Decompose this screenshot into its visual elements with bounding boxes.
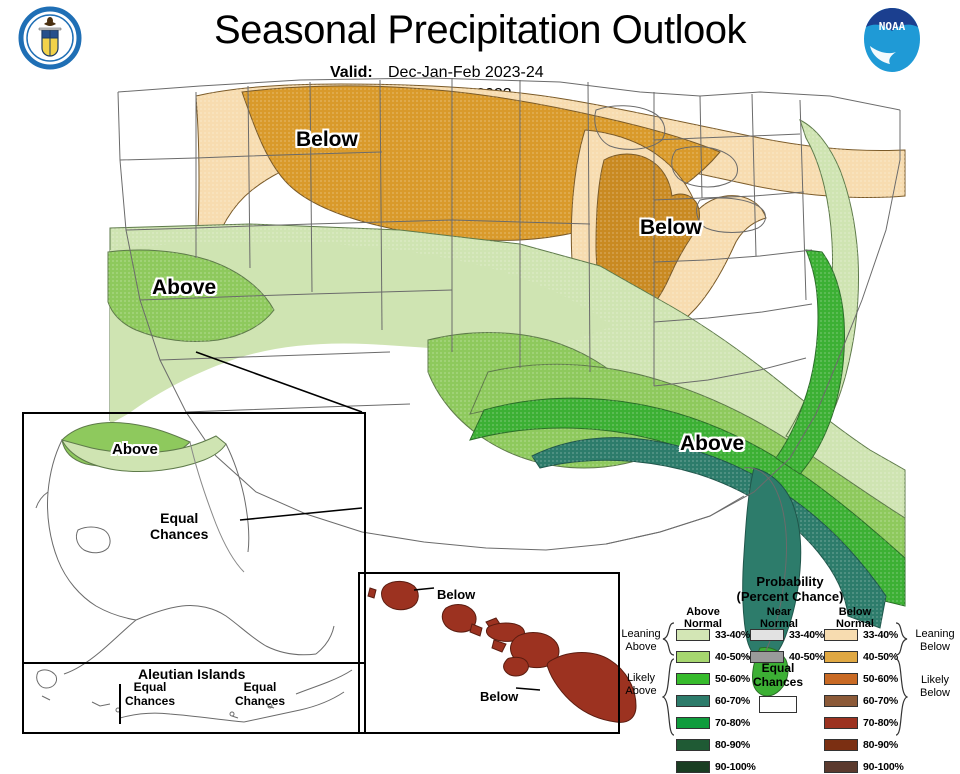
- map-label-above: Above: [680, 432, 744, 456]
- legend-column-header-near-normal: Near Normal: [746, 606, 812, 631]
- legend-head-above-1: Above: [670, 606, 736, 618]
- brace-label-leaning-below: LeaningBelow: [908, 628, 960, 653]
- brace-likely-above-icon: [662, 658, 676, 736]
- legend-below-normal-row: 90-100%: [824, 760, 904, 774]
- legend-below-normal-swatch: [824, 673, 858, 685]
- legend-above-normal-swatch: [676, 761, 710, 773]
- legend-above-normal-row: 60-70%: [676, 694, 750, 708]
- legend-below-normal-label: 50-60%: [863, 673, 898, 685]
- legend-title-line1: Probability: [680, 575, 900, 590]
- brace-leaning-below-icon: [894, 622, 908, 656]
- legend-below-normal-swatch: [824, 651, 858, 663]
- legend-below-normal-swatch: [824, 717, 858, 729]
- brace-likely-below-icon: [894, 658, 908, 736]
- brace-label-likely-above: LikelyAbove: [614, 672, 668, 697]
- legend-column-header-above-normal: Above Normal: [670, 606, 736, 631]
- legend-above-normal-row: 33-40%: [676, 628, 750, 642]
- legend-above-normal-label: 90-100%: [715, 761, 756, 773]
- brace-leaning-above-icon: [662, 622, 676, 656]
- legend-below-normal-row: 50-60%: [824, 672, 898, 686]
- legend-below-normal-swatch: [824, 629, 858, 641]
- legend-below-normal-row: 70-80%: [824, 716, 898, 730]
- brace-label-leaning-above: LeaningAbove: [614, 628, 668, 653]
- hawaii-label-below: Below: [480, 690, 518, 705]
- aleutian-label-left: EqualChances: [125, 681, 175, 709]
- legend-above-normal-swatch: [676, 717, 710, 729]
- legend-above-normal-label: 33-40%: [715, 629, 750, 641]
- legend-near-normal-label: 33-40%: [789, 629, 824, 641]
- legend-above-normal-label: 80-90%: [715, 739, 750, 751]
- legend-below-normal-row: 60-70%: [824, 694, 898, 708]
- legend-below-normal-swatch: [824, 695, 858, 707]
- legend-below-normal-label: 40-50%: [863, 651, 898, 663]
- brace-label-likely-below: LikelyBelow: [908, 674, 960, 699]
- legend-below-normal-label: 60-70%: [863, 695, 898, 707]
- legend-above-normal-row: 80-90%: [676, 738, 750, 752]
- equal-chances-line2: Chances: [738, 676, 818, 690]
- legend-below-normal-label: 80-90%: [863, 739, 898, 751]
- aleutian-label-right: EqualChances: [235, 681, 285, 709]
- map-label-below: Below: [640, 216, 702, 240]
- map-label-above: Above: [152, 276, 216, 300]
- precipitation-outlook-page: Seasonal Precipitation Outlook Valid:Dec…: [0, 0, 960, 742]
- legend-above-normal-swatch: [676, 695, 710, 707]
- legend-column-header-below-normal: Below Normal: [822, 606, 888, 631]
- hawaii-label-below: Below: [437, 588, 475, 603]
- legend-near-normal-swatch: [750, 629, 784, 641]
- legend-below-normal-swatch: [824, 761, 858, 773]
- legend-above-normal-row: 90-100%: [676, 760, 756, 774]
- equal-chances-line1: Equal: [738, 662, 818, 676]
- map-label-below: Below: [296, 128, 358, 152]
- hawaii-inset-frame: [358, 572, 620, 734]
- legend-below-normal-row: 33-40%: [824, 628, 898, 642]
- equal-chances-label: Equal Chances: [738, 662, 818, 690]
- legend-above-normal-swatch: [676, 673, 710, 685]
- legend-above-normal-label: 70-80%: [715, 717, 750, 729]
- legend-below-normal-label: 33-40%: [863, 629, 898, 641]
- alaska-label-above: Above: [112, 441, 158, 458]
- legend-above-normal-label: 60-70%: [715, 695, 750, 707]
- legend-below-normal-label: 90-100%: [863, 761, 904, 773]
- legend-title: Probability (Percent Chance): [680, 575, 900, 605]
- legend-near-normal-row: 33-40%: [750, 628, 824, 642]
- legend-head-below-1: Below: [822, 606, 888, 618]
- equal-chances-swatch: [759, 696, 797, 713]
- legend-head-near-1: Near: [746, 606, 812, 618]
- legend-title-line2: (Percent Chance): [680, 590, 900, 605]
- legend-above-normal-row: 70-80%: [676, 716, 750, 730]
- legend-below-normal-swatch: [824, 739, 858, 751]
- alaska-label-equal: EqualChances: [150, 510, 208, 542]
- legend-below-normal-row: 80-90%: [824, 738, 898, 752]
- legend-below-normal-label: 70-80%: [863, 717, 898, 729]
- legend-below-normal-row: 40-50%: [824, 650, 898, 664]
- legend-above-normal-swatch: [676, 651, 710, 663]
- legend-above-normal-swatch: [676, 739, 710, 751]
- legend: Probability (Percent Chance) Above Norma…: [618, 570, 960, 742]
- legend-above-normal-swatch: [676, 629, 710, 641]
